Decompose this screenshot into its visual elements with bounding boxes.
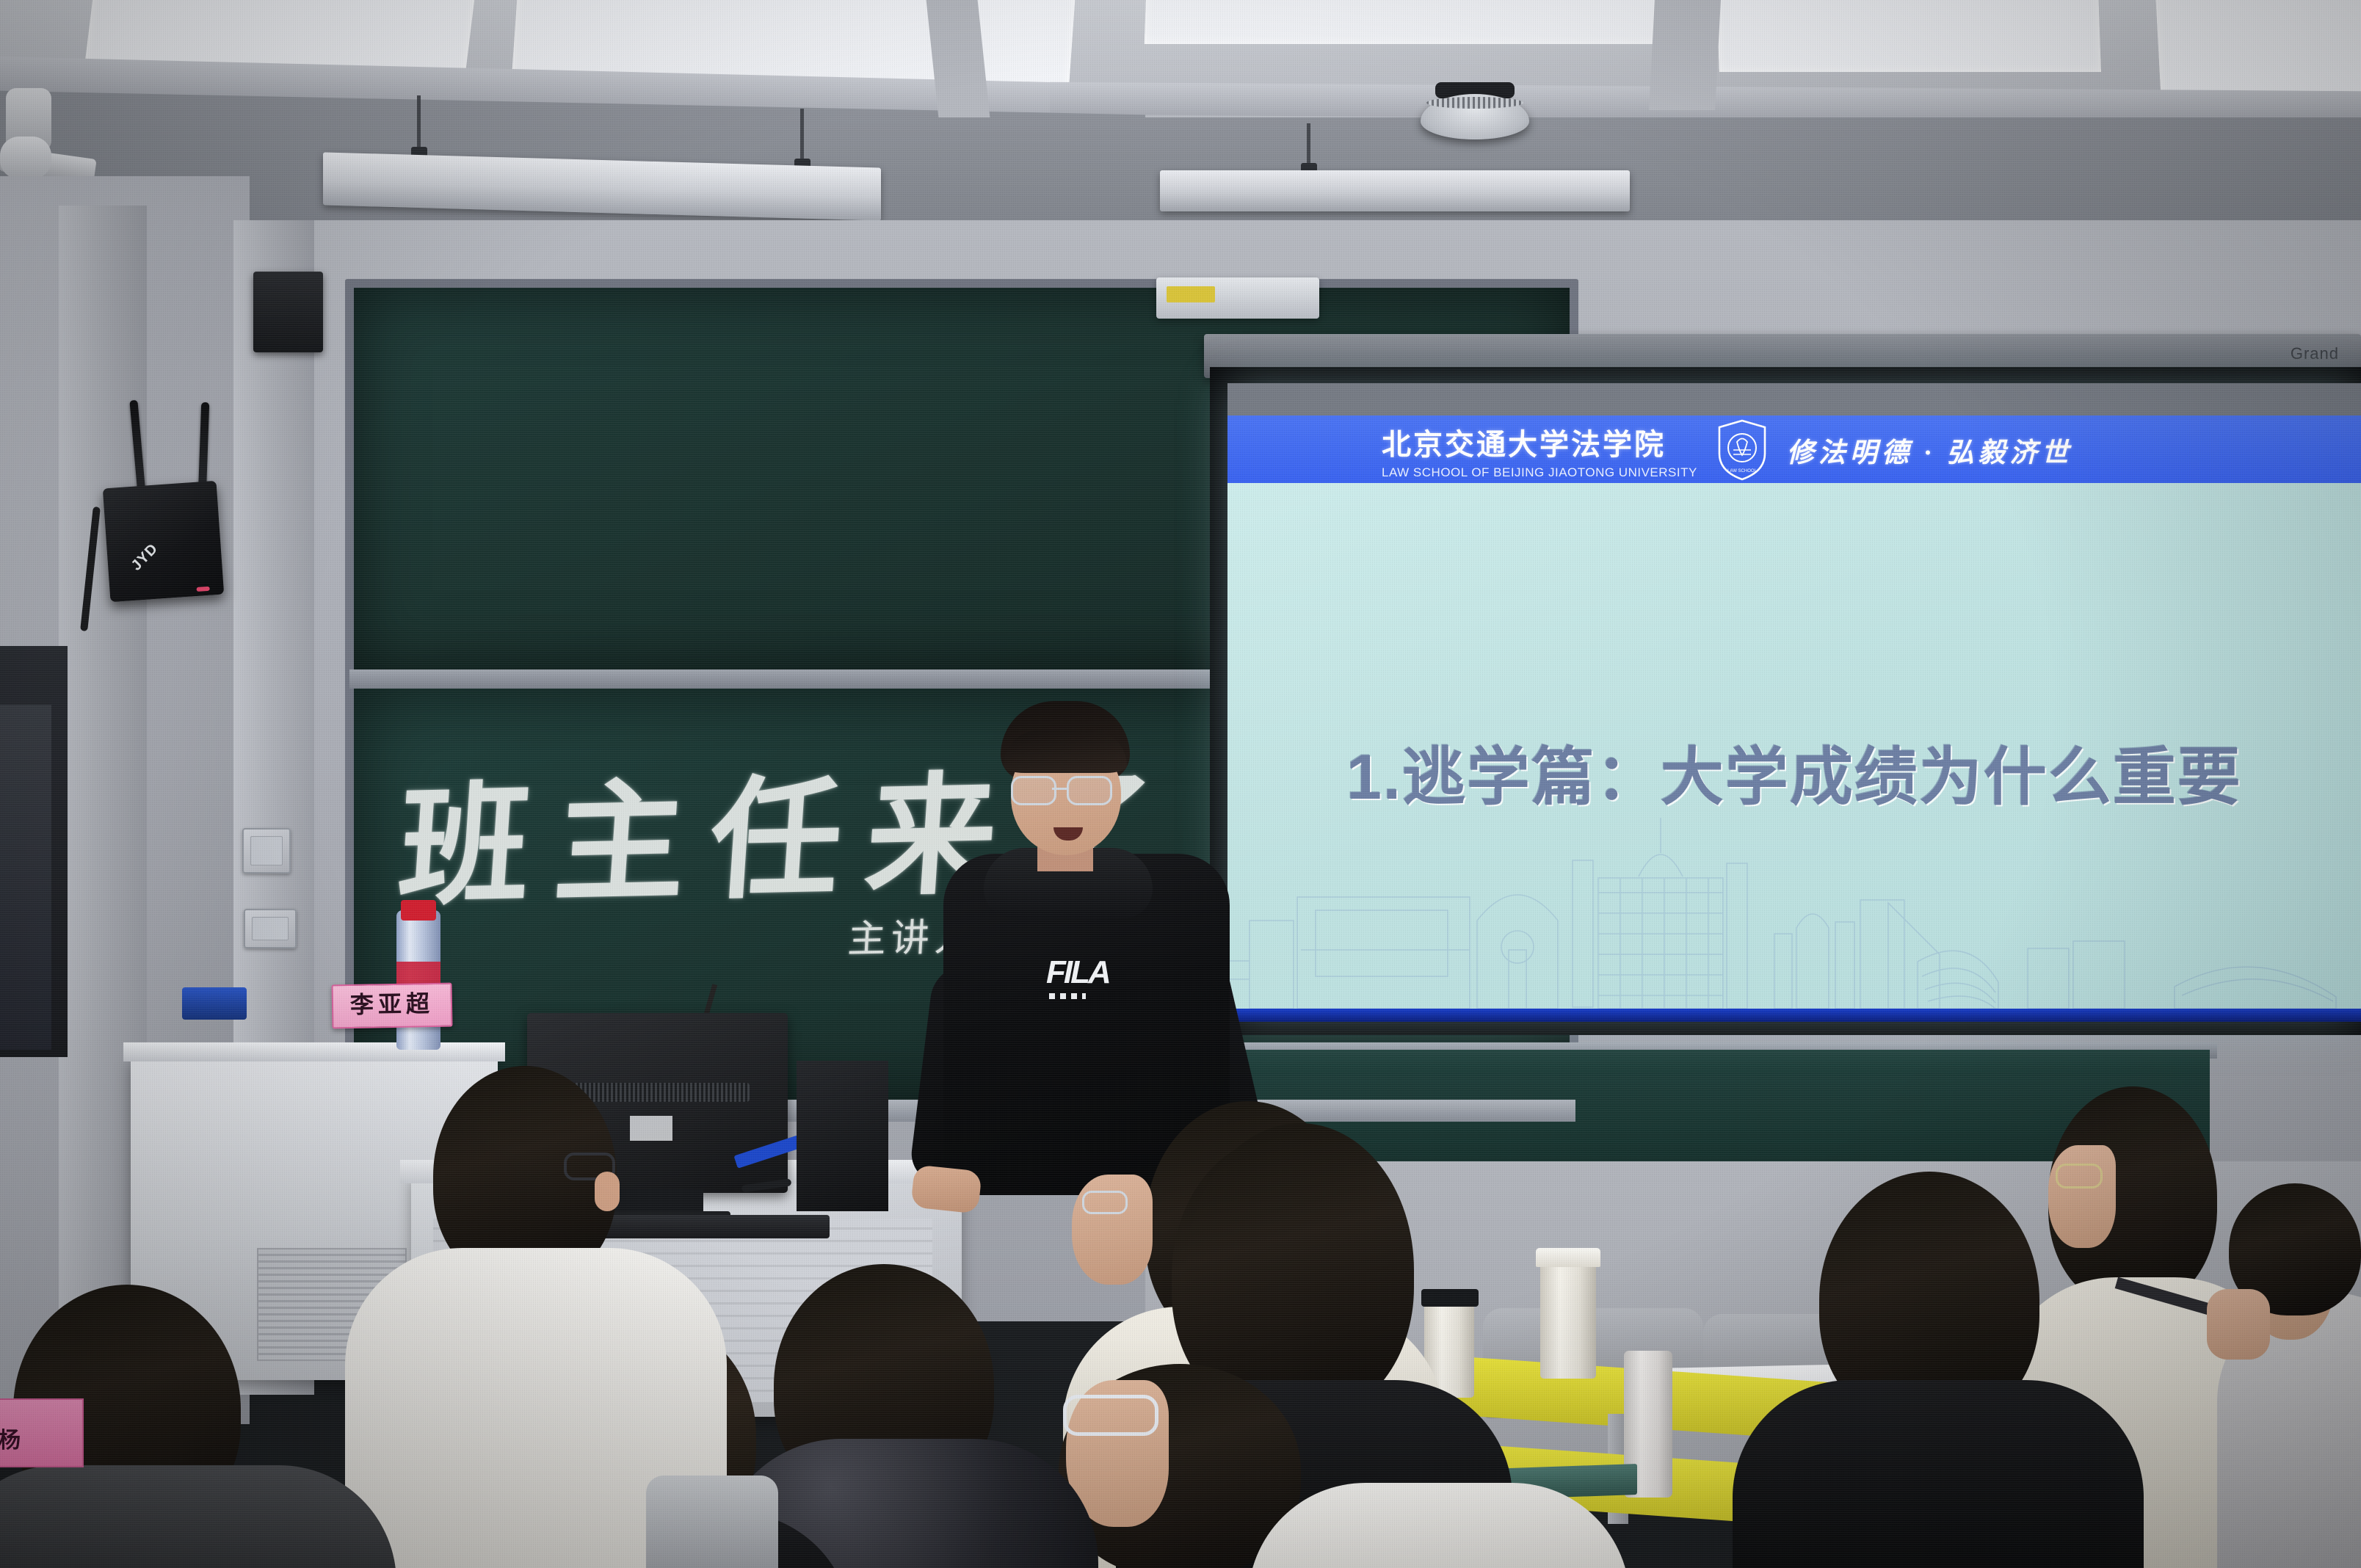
slide-header-band: 北京交通大学法学院 LAW SCHOOL OF BEIJING JIAOTONG… (1227, 415, 2361, 483)
institution-name-cn: 北京交通大学法学院 (1382, 421, 1697, 463)
podium-top-surface (123, 1042, 505, 1061)
student-ear (595, 1172, 620, 1211)
name-placard-text: 李亚超 (333, 984, 451, 1025)
ceiling-light-panel (1716, 0, 2101, 72)
warning-label (1167, 286, 1215, 302)
jyd-wireless-router: JYD (103, 481, 224, 602)
ceiling-light-panel (2155, 0, 2361, 103)
institution-motto: 修法明德 · 弘毅济世 (1787, 430, 2073, 470)
presentation-slide: 北京交通大学法学院 LAW SCHOOL OF BEIJING JIAOTONG… (1227, 383, 2361, 1022)
light-hanger (417, 95, 421, 153)
light-switch-panel[interactable] (244, 909, 297, 948)
paper-cup-black-lid (1421, 1289, 1479, 1307)
slide-header-content: 北京交通大学法学院 LAW SCHOOL OF BEIJING JIAOTONG… (1382, 418, 2073, 482)
router-led (196, 587, 209, 592)
light-hanger (1307, 123, 1310, 169)
student-glasses-icon (1082, 1191, 1128, 1214)
student-face (2048, 1145, 2116, 1248)
svg-text:LAW SCHOOL: LAW SCHOOL (1727, 469, 1757, 473)
keyboard[interactable] (587, 1215, 830, 1238)
switch-rocker[interactable] (250, 836, 283, 865)
ceiling-wifi-access-point-icon (1421, 94, 1529, 139)
switch-rocker[interactable] (252, 917, 289, 940)
secondary-name-placard: 杨 (0, 1398, 84, 1467)
student-glasses-icon (2056, 1164, 2103, 1188)
desktop-tower (797, 1061, 888, 1211)
city-skyline-graphic (1227, 810, 2361, 1009)
glasses-left-lens (1011, 776, 1056, 805)
name-placard: 李亚超 (331, 983, 452, 1029)
wall-mounted-speaker (253, 272, 323, 352)
student-hand (2207, 1289, 2270, 1360)
classroom-photo-scene: JYD 班主任来了 主讲人： Grand 北京交通大学法学院 LAW SCHOO… (0, 0, 2361, 1568)
light-hanger (800, 109, 804, 166)
ceiling-cross-beam (1649, 0, 1721, 110)
router-brand-label: JYD (128, 540, 162, 574)
slide-top-bar (1227, 383, 2361, 415)
light-switch-panel[interactable] (242, 828, 291, 874)
law-school-shield-icon: LAW SCHOOL (1716, 418, 1768, 482)
slide-body: 1.逃学篇：大学成绩为什么重要 (1227, 483, 2361, 1022)
paper-cup-lid (1536, 1248, 1600, 1267)
ceiling-fan-motor (0, 137, 51, 179)
institution-name-en: LAW SCHOOL OF BEIJING JIAOTONG UNIVERSIT… (1382, 465, 1697, 480)
ap-vent-grille (1426, 97, 1523, 109)
monitor-spec-label (630, 1116, 672, 1141)
ceiling-light-panel (1145, 0, 1660, 44)
presenter-fringe (1004, 730, 1127, 773)
bottle-cap (401, 900, 436, 921)
screen-brand-label: Grand (2291, 344, 2339, 363)
student-shoulders (1733, 1380, 2144, 1568)
hoodie-brand-logo: FILA (1046, 954, 1109, 991)
glasses-right-lens (1067, 776, 1112, 805)
chair-back[interactable] (646, 1476, 778, 1568)
slide-bottom-glow (1227, 1009, 2361, 1022)
fluorescent-tube-light (1160, 170, 1630, 211)
blue-desk-item (182, 987, 247, 1020)
hoodie-logo-underline (1049, 993, 1086, 999)
paper-cup (1540, 1260, 1596, 1379)
student-glasses-icon (1063, 1395, 1158, 1436)
door-frame[interactable] (0, 705, 51, 1050)
student-shoulders (0, 1465, 396, 1568)
secondary-name-placard-text: 杨 (0, 1422, 21, 1454)
slide-title: 1.逃学篇：大学成绩为什么重要 (1227, 725, 2361, 817)
projector-mount-bar (1156, 277, 1319, 319)
presenter-resting-hand (910, 1164, 982, 1213)
glasses-bridge (1052, 788, 1068, 790)
presenter: FILA (943, 701, 1230, 1193)
